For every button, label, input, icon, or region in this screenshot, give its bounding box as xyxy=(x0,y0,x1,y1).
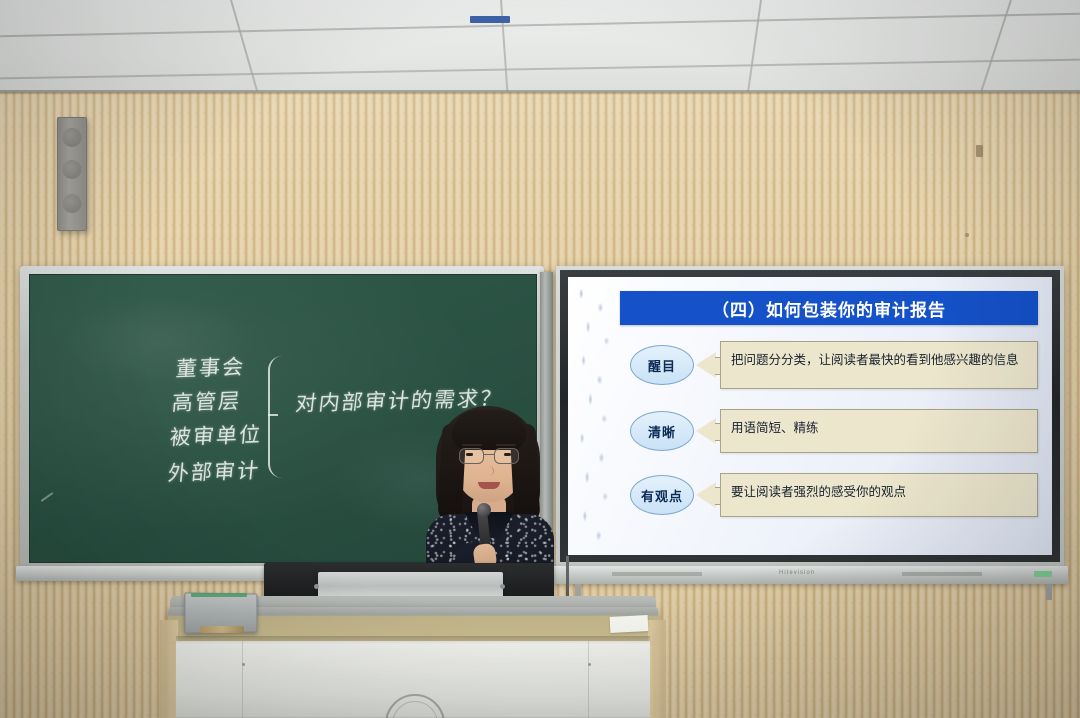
speaker-icon xyxy=(57,117,87,231)
laptop-screen-edge xyxy=(191,593,247,597)
slide-row-label: 清晰 xyxy=(630,411,694,451)
arrow-left-icon xyxy=(696,352,720,378)
interactive-whiteboard[interactable]: （四）如何包装你的审计报告 醒目 把问题分分类，让阅读者最快的看到他感兴趣的信息… xyxy=(556,266,1064,566)
paper-sheet xyxy=(610,615,649,633)
chalk-brace xyxy=(268,356,292,478)
wall-screw xyxy=(965,233,969,237)
ceiling xyxy=(0,0,1080,96)
presentation-slide: （四）如何包装你的审计报告 醒目 把问题分分类，让阅读者最快的看到他感兴趣的信息… xyxy=(568,277,1052,555)
podium-shadow xyxy=(176,636,650,644)
chalk-line-3: 被审单位 xyxy=(168,418,263,454)
slide-row-text: 用语简短、精练 xyxy=(720,409,1038,453)
wall-top-edge xyxy=(0,92,1080,95)
slide-row: 清晰 用语简短、精练 xyxy=(630,409,1038,453)
desk-items xyxy=(200,626,244,633)
podium-side-right xyxy=(648,620,666,718)
arrow-left-icon xyxy=(696,482,720,508)
slide-row-label: 醒目 xyxy=(630,345,694,385)
screen-bezel: （四）如何包装你的审计报告 醒目 把问题分分类，让阅读者最快的看到他感兴趣的信息… xyxy=(560,270,1060,562)
slide-row-text: 把问题分分类，让阅读者最快的看到他感兴趣的信息 xyxy=(720,341,1038,389)
slide-row-label: 有观点 xyxy=(630,475,694,515)
slide-title: （四）如何包装你的审计报告 xyxy=(620,291,1038,325)
slide-row: 醒目 把问题分分类，让阅读者最快的看到他感兴趣的信息 xyxy=(630,341,1038,389)
slide-row: 有观点 要让阅读者强烈的感受你的观点 xyxy=(630,473,1038,517)
chalk-line-4: 外部审计 xyxy=(166,454,261,490)
arrow-left-icon xyxy=(696,418,720,444)
slide-row-text: 要让阅读者强烈的感受你的观点 xyxy=(720,473,1038,517)
rail-marker-tray xyxy=(470,16,510,23)
power-indicator xyxy=(1034,571,1052,577)
mouth xyxy=(478,482,500,489)
wall-fixture xyxy=(976,145,983,157)
chalk-line-2: 高管层 xyxy=(170,385,242,420)
chalk-line-1: 董事会 xyxy=(174,351,246,386)
whiteboard-rail[interactable]: Hitevision xyxy=(552,566,1068,584)
classroom-photo: 董事会 高管层 被审单位 外部审计 对内部审计的需求？ （四）如何包装你的审计报… xyxy=(0,0,1080,718)
rail-brand: Hitevision xyxy=(779,570,815,576)
